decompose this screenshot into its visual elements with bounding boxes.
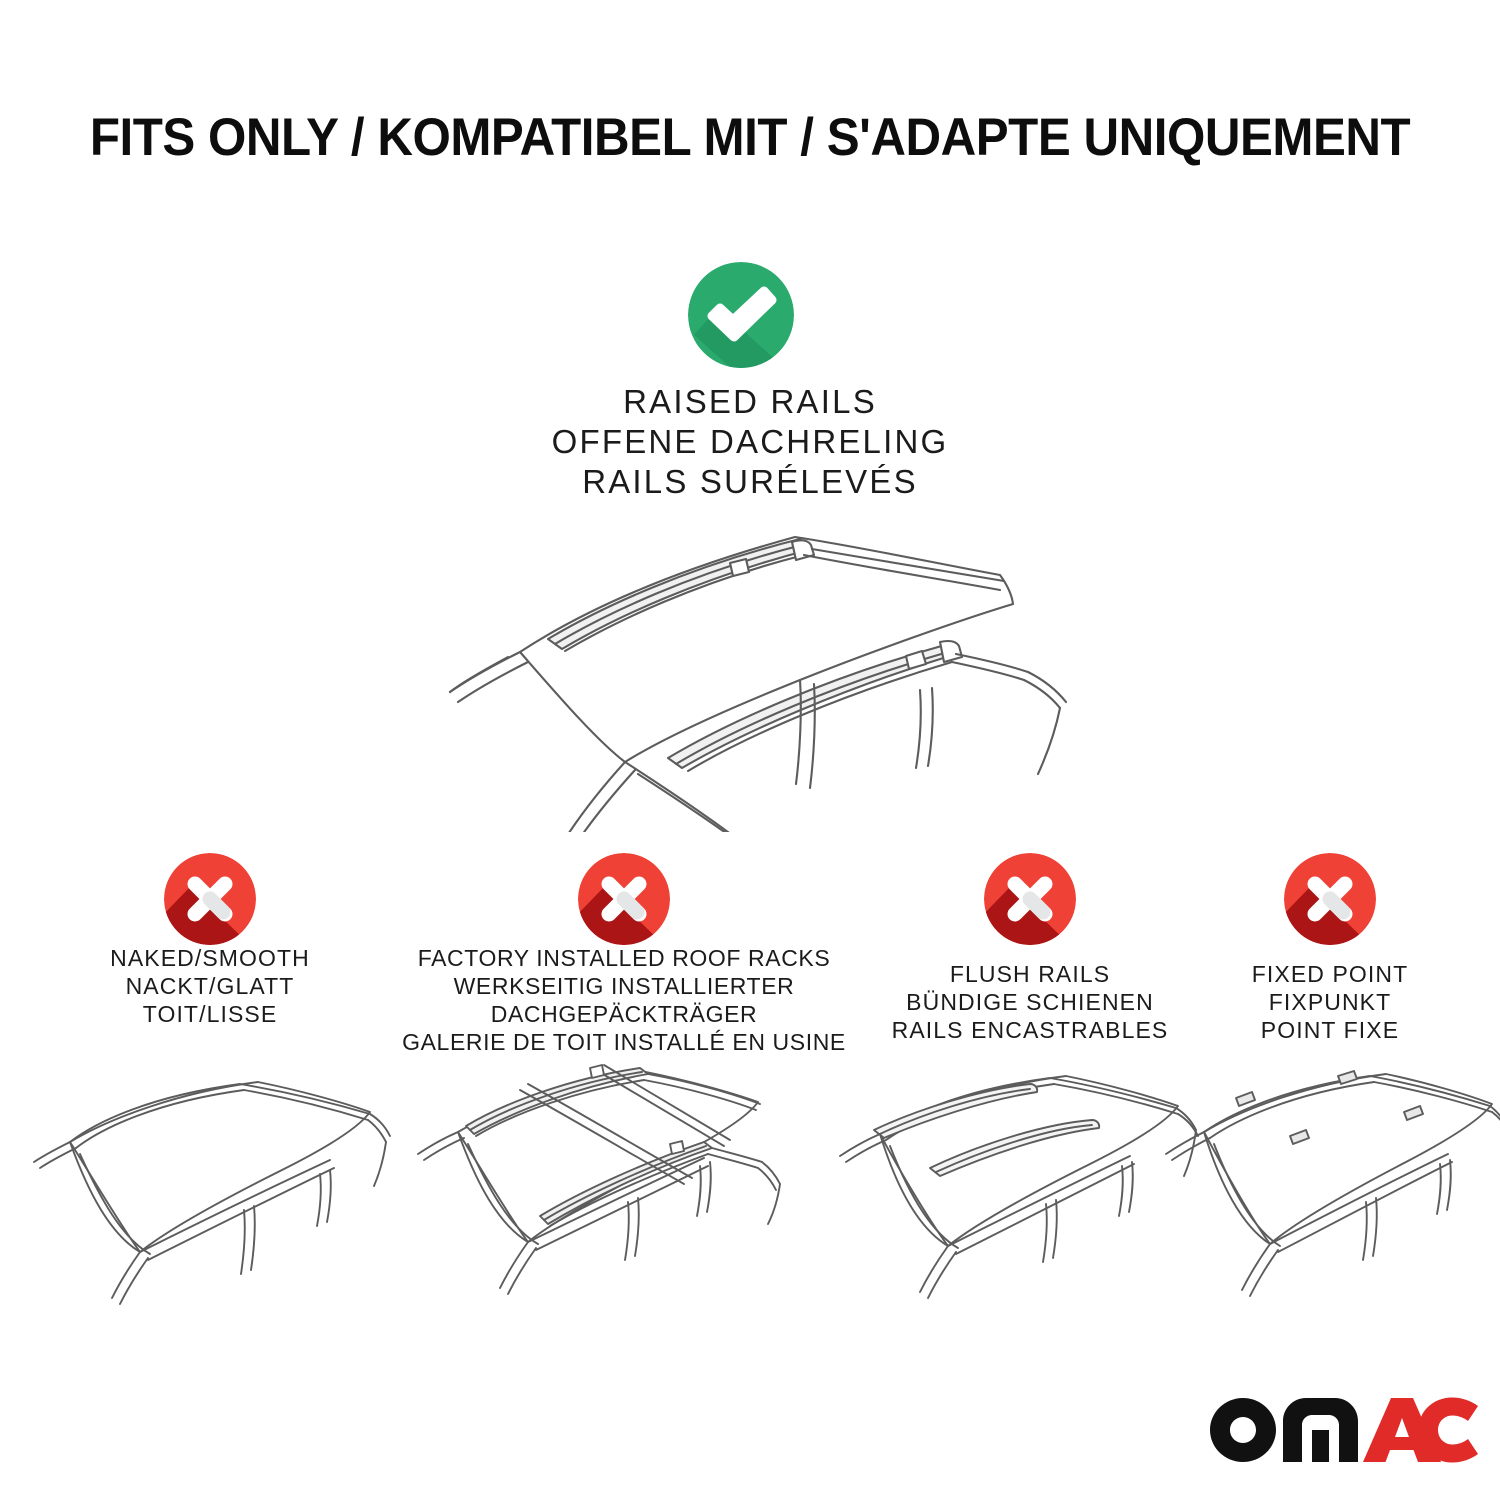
fixed-point-caption-line-1: FIXED POINT: [1180, 960, 1480, 988]
compatible-caption: RAISED RAILS OFFENE DACHRELING RAILS SUR…: [400, 382, 1100, 502]
naked-smooth-caption-line-2: NACKT/GLATT: [35, 972, 385, 1000]
compatible-caption-line-2: OFFENE DACHRELING: [400, 422, 1100, 462]
car-roof-fixed-point-illustration: [1160, 1062, 1500, 1312]
naked-smooth-caption-line-1: NAKED/SMOOTH: [35, 944, 385, 972]
fixed-point-caption: FIXED POINT FIXPUNKT POINT FIXE: [1180, 960, 1480, 1044]
fixed-point-caption-line-3: POINT FIXE: [1180, 1016, 1480, 1044]
cross-circle-icon-flush-rails: [984, 853, 1076, 945]
flush-rails-caption-line-2: BÜNDIGE SCHIENEN: [860, 988, 1200, 1016]
cross-mark-glyph: [578, 853, 670, 945]
cross-mark-glyph: [984, 853, 1076, 945]
check-mark-glyph: [688, 262, 794, 368]
compatible-caption-line-1: RAISED RAILS: [400, 382, 1100, 422]
car-roof-raised-rails-illustration: [400, 512, 1100, 832]
cross-mark-glyph: [1284, 853, 1376, 945]
check-circle-icon: [688, 262, 794, 368]
cross-circle-icon-factory-roof-racks: [578, 853, 670, 945]
factory-roof-racks-caption-line-4: GALERIE DE TOIT INSTALLÉ EN USINE: [384, 1028, 864, 1056]
omac-logo: [1205, 1392, 1483, 1464]
fixed-point-caption-line-2: FIXPUNKT: [1180, 988, 1480, 1016]
factory-roof-racks-caption: FACTORY INSTALLED ROOF RACKS WERKSEITIG …: [384, 944, 864, 1056]
cross-circle-icon-naked-smooth: [164, 853, 256, 945]
car-roof-factory-roof-racks-illustration: [400, 1060, 800, 1312]
car-roof-flush-rails-illustration: [830, 1062, 1210, 1312]
flush-rails-caption-line-1: FLUSH RAILS: [860, 960, 1200, 988]
flush-rails-caption-line-3: RAILS ENCASTRABLES: [860, 1016, 1200, 1044]
naked-smooth-caption-line-3: TOIT/LISSE: [35, 1000, 385, 1028]
cross-circle-icon-fixed-point: [1284, 853, 1376, 945]
factory-roof-racks-caption-line-1: FACTORY INSTALLED ROOF RACKS: [384, 944, 864, 972]
flush-rails-caption: FLUSH RAILS BÜNDIGE SCHIENEN RAILS ENCAS…: [860, 960, 1200, 1044]
factory-roof-racks-caption-line-3: DACHGEPÄCKTRÄGER: [384, 1000, 864, 1028]
compatible-caption-line-3: RAILS SURÉLEVÉS: [400, 462, 1100, 502]
factory-roof-racks-caption-line-2: WERKSEITIG INSTALLIERTER: [384, 972, 864, 1000]
omac-logo-glyph: [1205, 1392, 1483, 1464]
car-roof-naked-smooth-illustration: [30, 1062, 400, 1312]
page-title: FITS ONLY / KOMPATIBEL MIT / S'ADAPTE UN…: [53, 108, 1448, 168]
naked-smooth-caption: NAKED/SMOOTH NACKT/GLATT TOIT/LISSE: [35, 944, 385, 1028]
cross-mark-glyph: [164, 853, 256, 945]
